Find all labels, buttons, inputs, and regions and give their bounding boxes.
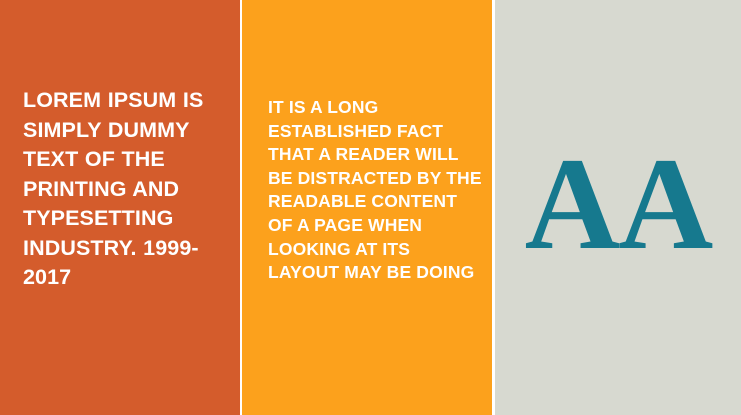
headline-text: Lorem Ipsum is simply dummy text of the … [23, 86, 228, 293]
sample-glyphs: AA [495, 143, 741, 265]
glyph-panel: AA [495, 0, 741, 415]
body-text: It is a long established fact that a rea… [268, 96, 486, 285]
body-panel: It is a long established fact that a rea… [242, 0, 492, 415]
specimen-board: Lorem Ipsum is simply dummy text of the … [0, 0, 741, 415]
headline-panel: Lorem Ipsum is simply dummy text of the … [0, 0, 240, 415]
